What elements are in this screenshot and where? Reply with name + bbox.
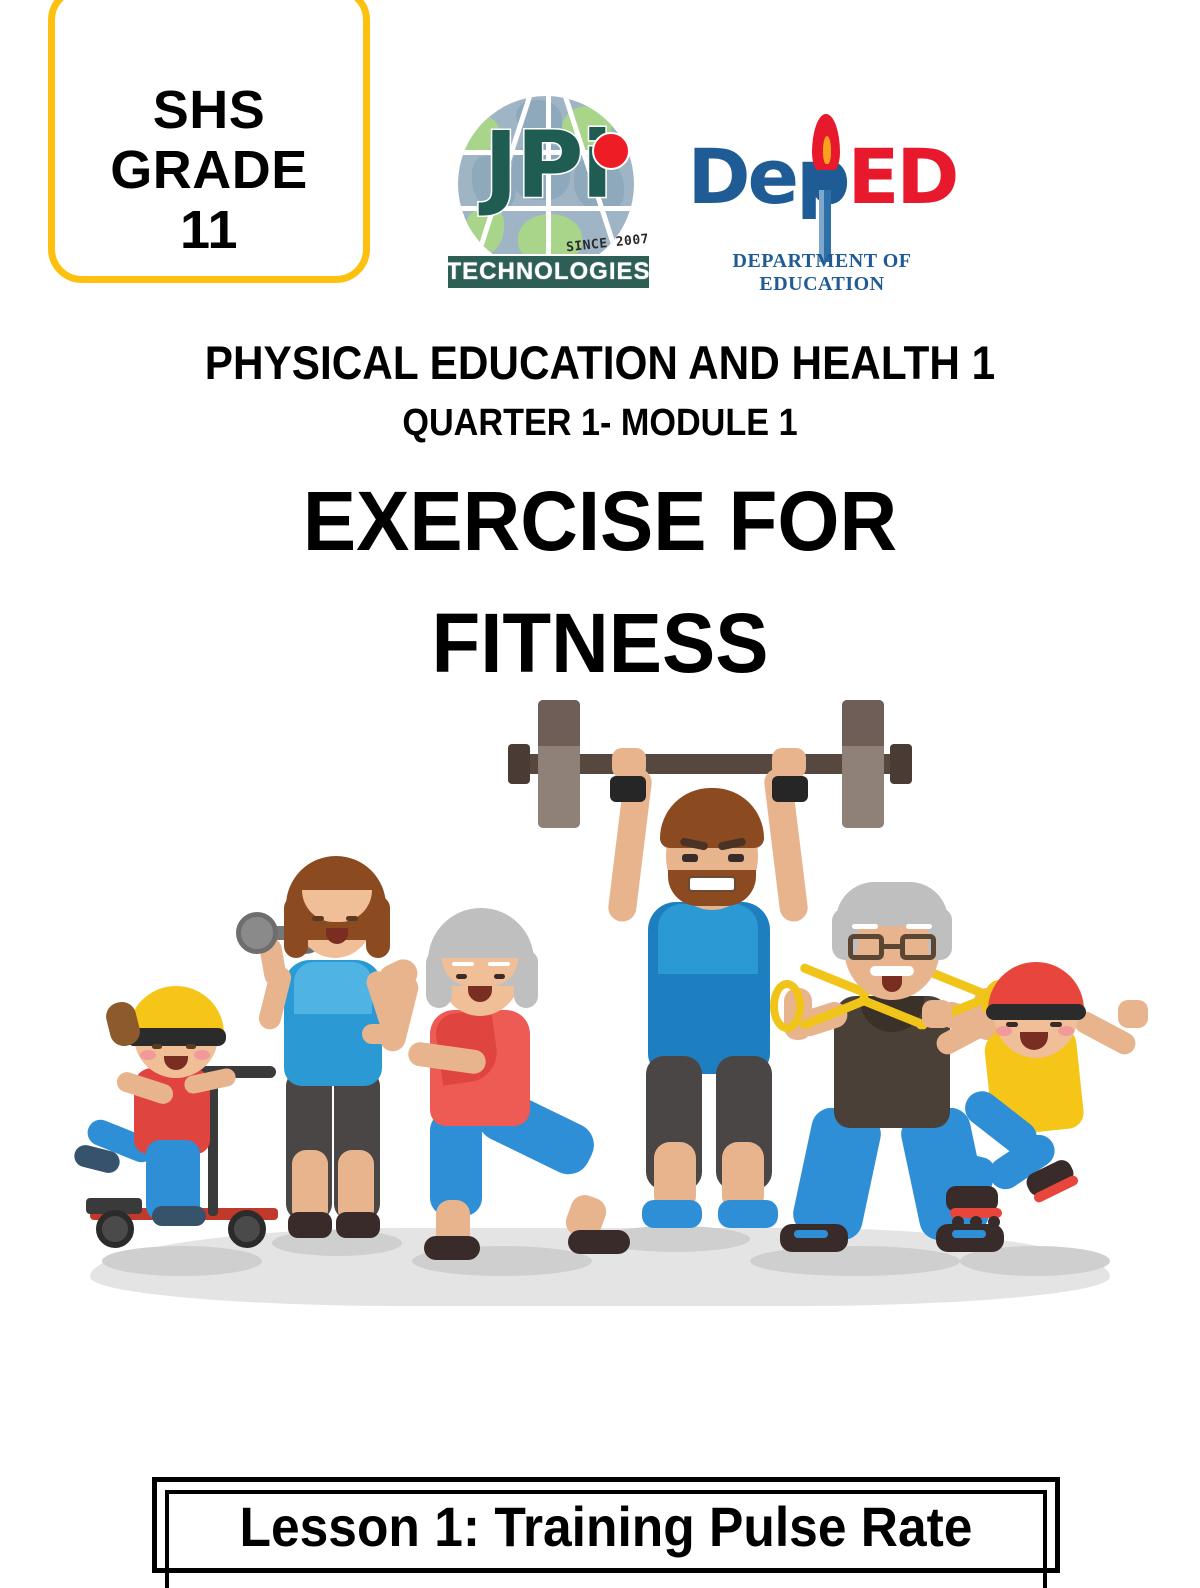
- deped-ed-text: ED: [848, 132, 957, 221]
- quarter-module-subtitle: QUARTER 1- MODULE 1: [60, 402, 1140, 444]
- jpi-red-dot-icon: [592, 132, 630, 170]
- figure-boy-rollerblading: [940, 960, 1140, 1260]
- deped-subtitle: DEPARTMENT OF EDUCATION: [686, 250, 958, 296]
- jpi-technologies-logo: JPi SINCE 2007 TECHNOLOGIES: [440, 96, 655, 291]
- cover-header: SHS GRADE 11 JPi SINCE 2007 TECHN: [0, 0, 1200, 310]
- course-title: PHYSICAL EDUCATION AND HEALTH 1: [60, 338, 1140, 388]
- main-title-line-2: FITNESS: [432, 596, 769, 690]
- jpi-wordmark: JPi: [440, 120, 655, 212]
- module-main-title: EXERCISE FORFITNESS: [30, 460, 1170, 704]
- grade-level-label: SHS GRADE 11: [48, 80, 370, 260]
- lesson-title: Lesson 1: Training Pulse Rate: [188, 1484, 1023, 1570]
- main-title-line-1: EXERCISE FOR: [303, 474, 897, 568]
- torch-icon: [808, 114, 842, 266]
- flame-icon: [812, 114, 840, 176]
- people-exercising-illustration: [60, 690, 1140, 1310]
- jpi-technologies-banner: TECHNOLOGIES: [446, 254, 651, 290]
- cover-page: SHS GRADE 11 JPi SINCE 2007 TECHN: [0, 0, 1200, 1553]
- deped-logo: DepED DEPARTMENT OF EDUCATION: [686, 110, 958, 285]
